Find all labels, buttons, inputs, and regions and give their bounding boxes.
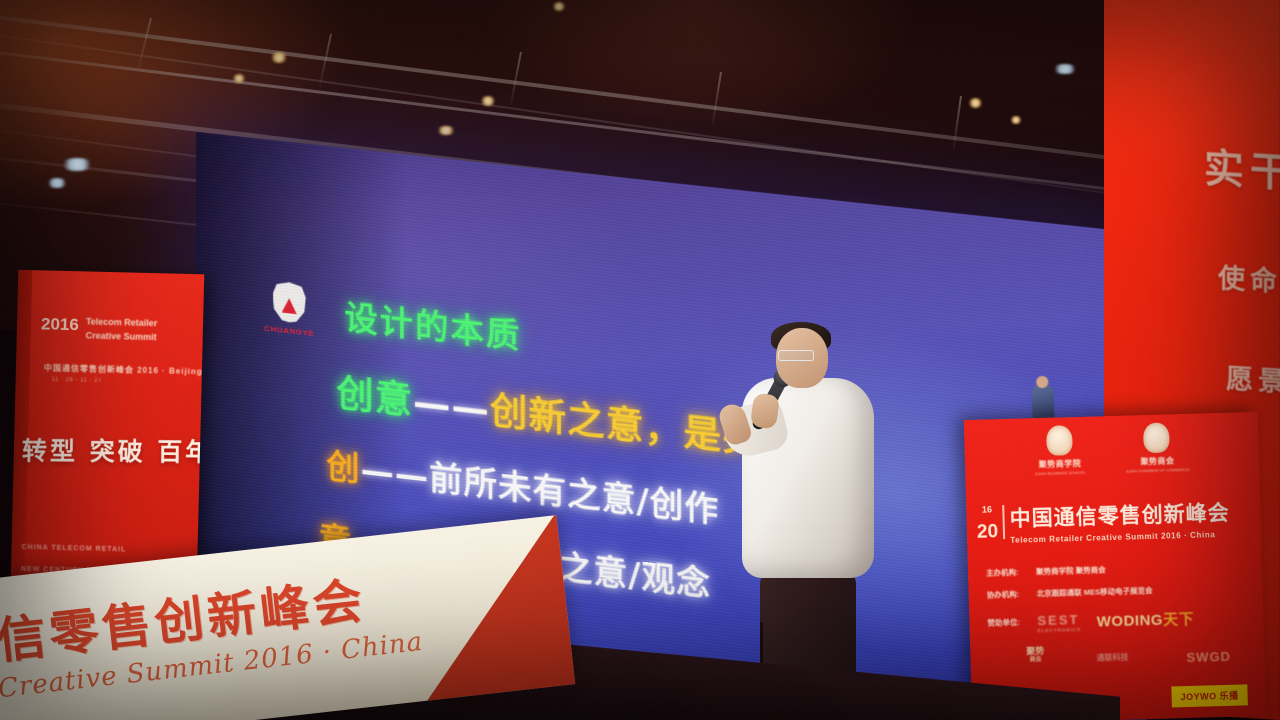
poster-credits: 主办机构: 聚势商学院 聚势商会 协办机构: 北京跟踪通联 MES移动电子展览会…: [986, 560, 1250, 645]
poster-divider: [1002, 505, 1005, 539]
seal-icon: [1046, 425, 1073, 456]
left-poster-header: 2016 Telecom Retailer Creative Summit: [41, 314, 158, 344]
mark-tonglian: 通联科技: [1096, 652, 1128, 664]
poster-logo-row: 聚势商学院 JUSHI BUSINESS SCHOOL 聚势商会 JUSHI C…: [964, 420, 1260, 486]
poster-title-row: 16 20 中国通信零售创新峰会 Telecom Retailer Creati…: [976, 496, 1252, 546]
seal-icon: [1143, 422, 1170, 453]
sponsor-sest-sub: ELECTRONICS: [1038, 626, 1081, 632]
left-poster-date: 11 · 26 - 11 · 27: [52, 377, 102, 384]
truss-beam: [0, 8, 1280, 190]
poster-year-suffix: 16: [982, 504, 992, 514]
mark-jushi-sub: 商会: [1026, 657, 1044, 665]
sponsor-woding-logo: WODING天下: [1096, 608, 1194, 632]
truss-strut: [137, 18, 152, 71]
slide-line-2-lead: 创: [326, 446, 360, 489]
left-poster-title-cn: 中国通信零售创新峰会 2016 · Beijing: [44, 362, 203, 377]
poster-logo-2: 聚势商会 JUSHI CHAMBER OF COMMERCE: [1124, 422, 1190, 482]
sponsor-sest-logo: SEST ELECTRONICS: [1037, 611, 1081, 632]
sponsor-sest-name: SEST: [1037, 612, 1079, 628]
stage-light: [60, 158, 94, 171]
slide-line-1-dash: ——: [413, 380, 490, 432]
conference-stage-photo: CHUANGYE 设计的本质 创意——创新之意，是突破 创——前所未有之意/创作…: [0, 0, 1280, 720]
left-poster-year: 2016: [41, 314, 79, 335]
right-event-poster: 聚势商学院 JUSHI BUSINESS SCHOOL 聚势商会 JUSHI C…: [964, 412, 1266, 720]
mark-jushi: 聚势 商会: [1026, 646, 1045, 665]
credit-row: 协办机构: 北京跟踪通联 MES移动电子展览会: [987, 582, 1249, 600]
poster-logo-2-name: 聚势商会: [1140, 455, 1174, 467]
wall-word-1: 实干: [1204, 135, 1280, 198]
credit-label: 主办机构:: [986, 566, 1030, 578]
slide-line-2-rest: 前所未有之意/创作: [429, 458, 719, 530]
poster-logo-1-name: 聚势商学院: [1039, 458, 1082, 470]
left-poster-slogan: 转型 突破 百年之路: [22, 431, 198, 468]
poster-logo-2-sub: JUSHI CHAMBER OF COMMERCE: [1126, 467, 1190, 474]
credit-value: 聚势商学院 聚势商会: [1036, 564, 1106, 577]
stage-light: [436, 126, 456, 135]
stage-light: [46, 178, 68, 188]
background-figure: [1031, 384, 1054, 423]
stage-light: [270, 52, 288, 63]
sponsor-logos: SEST ELECTRONICS WODING天下: [1037, 608, 1194, 633]
sponsor-label: 赞助单位:: [987, 616, 1031, 628]
credit-label: 协办机构:: [987, 588, 1031, 600]
stage-light: [1010, 116, 1022, 124]
poster-logo-1: 聚势商学院 JUSHI BUSINESS SCHOOL: [1033, 425, 1086, 484]
stage-light: [1052, 64, 1078, 74]
poster-year-prefix: 20: [977, 521, 999, 543]
sponsor-woding-name: WODING: [1097, 612, 1164, 631]
poster-titles: 中国通信零售创新峰会 Telecom Retailer Creative Sum…: [1009, 497, 1230, 545]
stage-light: [968, 98, 983, 108]
mark-jushi-name: 聚势: [1026, 646, 1044, 656]
mark-joywo-badge: JOYWO 乐播: [1171, 684, 1248, 707]
credit-value: 北京跟踪通联 MES移动电子展览会: [1037, 585, 1153, 599]
poster-title-cn: 中国通信零售创新峰会: [1009, 497, 1230, 533]
mark-swgd: SWGD: [1186, 649, 1231, 665]
left-poster-title-en: Telecom Retailer Creative Summit: [85, 315, 157, 344]
poster-year: 16 20: [976, 503, 998, 541]
left-poster-footer-1: CHINA TELECOM RETAIL: [21, 544, 126, 554]
truss-strut: [510, 52, 522, 105]
stage-light: [552, 2, 566, 11]
poster-logo-1-sub: JUSHI BUSINESS SCHOOL: [1035, 470, 1086, 476]
left-poster-title-en-1: Telecom Retailer: [86, 315, 158, 330]
wall-word-2: 使命: [1218, 256, 1280, 299]
left-poster-title-en-2: Creative Summit: [85, 329, 157, 344]
stage-light: [232, 74, 246, 83]
sponsor-woding-suffix: 天下: [1163, 611, 1194, 629]
wall-word-3: 愿景: [1226, 357, 1280, 400]
truss-strut: [952, 96, 961, 150]
slide-line-1-lead: 创意: [336, 372, 413, 424]
truss-strut: [712, 72, 722, 126]
stage-light: [480, 96, 496, 106]
eyeglasses-icon: [778, 350, 814, 361]
slide-line-2-dash: ——: [361, 450, 430, 497]
poster-title-en: Telecom Retailer Creative Summit 2016 · …: [1010, 530, 1230, 545]
sponsor-row: 赞助单位: SEST ELECTRONICS WODING天下: [987, 604, 1250, 634]
credit-row: 主办机构: 聚势商学院 聚势商会: [986, 560, 1248, 578]
slide-title: 设计的本质: [344, 290, 521, 358]
